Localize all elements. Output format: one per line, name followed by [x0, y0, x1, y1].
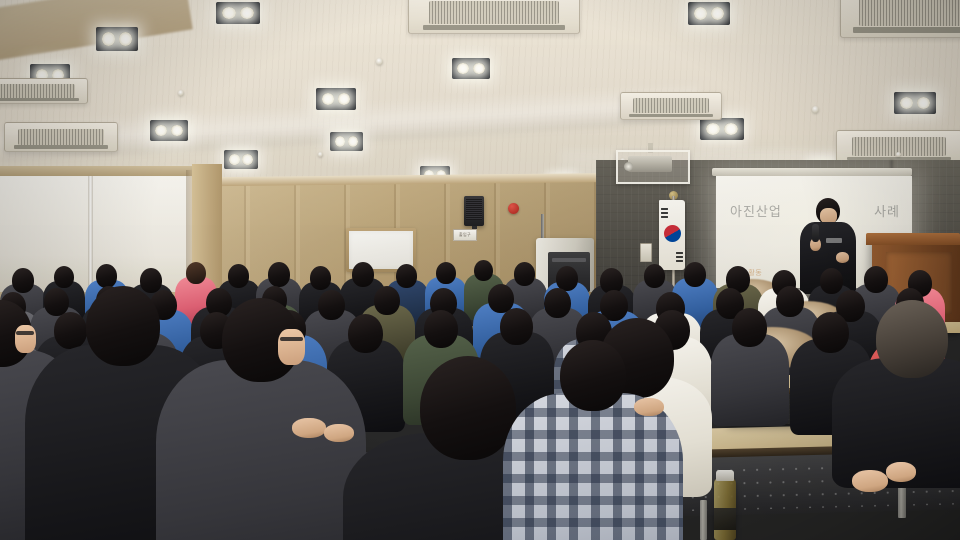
ac-vent: [0, 78, 88, 104]
ceiling-downlight: [216, 2, 260, 24]
hand: [852, 470, 888, 492]
audience-head: [318, 290, 345, 320]
speaker-grille: [466, 199, 482, 220]
audience-head: [436, 262, 456, 284]
presenter-hand: [836, 252, 849, 263]
audience-head: [560, 340, 626, 411]
hand: [324, 424, 354, 442]
projector: [628, 156, 672, 172]
audience-head: [96, 264, 117, 288]
audience-torso: [711, 334, 789, 426]
audience-head: [876, 300, 948, 378]
ceiling-downlight: [700, 118, 744, 140]
ac-vent: [408, 0, 580, 34]
face: [278, 329, 305, 365]
audience-head: [268, 262, 290, 287]
ac-vent: [4, 122, 118, 152]
audience-head: [500, 308, 533, 345]
ceiling-downlight: [150, 120, 188, 141]
desk-leg: [700, 500, 707, 540]
face: [15, 325, 36, 354]
audience-head: [474, 260, 493, 281]
audience-head: [644, 264, 665, 288]
ceiling-downlight: [894, 92, 936, 114]
bottle-cap: [716, 470, 734, 481]
av-equipment-slot: [552, 258, 586, 262]
audience-head: [186, 262, 206, 284]
audience-head: [424, 310, 458, 348]
audience-head: [86, 286, 160, 366]
audience-head: [228, 264, 249, 288]
fire-alarm-icon: [508, 203, 519, 214]
sprinkler-head: [812, 106, 819, 113]
ac-vent: [836, 130, 960, 164]
audience-head: [514, 262, 535, 286]
audience-head: [12, 268, 34, 293]
blinds-headrail: [0, 166, 196, 176]
hand: [886, 462, 916, 482]
podium-top: [866, 233, 960, 245]
audience-head: [310, 266, 331, 290]
audience-head: [54, 266, 74, 288]
audience-head: [140, 268, 162, 293]
screen-housing: [712, 168, 912, 176]
glasses-icon: [16, 331, 35, 335]
ceiling-downlight: [224, 150, 258, 169]
ceiling-downlight: [316, 88, 356, 110]
audience-head: [352, 262, 374, 287]
ceiling-downlight: [330, 132, 363, 151]
glasses-icon: [280, 337, 303, 341]
sprinkler-head: [318, 152, 323, 157]
microphone-icon: [812, 224, 819, 242]
seminar-room-photo: 출입구 아진산업 사례 혁신 활동 개선: [0, 0, 960, 540]
taeguk-symbol-icon: [664, 225, 681, 242]
ac-vent: [840, 0, 960, 38]
audience-head: [544, 288, 571, 318]
ac-vent: [620, 92, 722, 120]
slide-title: 아진산업 사례: [722, 198, 908, 222]
slide-title-left: 아진산업: [730, 201, 782, 220]
slide-title-right: 사례: [874, 201, 900, 220]
bottle-label: [714, 508, 736, 530]
audience-head: [732, 308, 767, 347]
blinds-divider: [88, 176, 93, 292]
audience-head: [374, 286, 400, 315]
audience-head: [54, 312, 87, 349]
ceiling-downlight: [96, 27, 138, 51]
ceiling-downlight: [688, 2, 730, 25]
wall-sign: 출입구: [453, 229, 477, 241]
audience-head: [684, 262, 706, 287]
audience-head: [812, 312, 849, 353]
audience-head: [396, 264, 417, 288]
sprinkler-head: [178, 90, 184, 96]
ceiling-downlight: [452, 58, 490, 79]
hand: [292, 418, 326, 438]
sprinkler-head: [896, 152, 901, 157]
light-switch[interactable]: [640, 243, 652, 262]
audience-head: [420, 356, 516, 460]
audience-head: [348, 314, 383, 353]
audience-torso: [156, 360, 366, 540]
projector-lens-icon: [624, 162, 633, 171]
audience-head: [556, 266, 578, 291]
microphone-stand: [541, 214, 544, 240]
audience-head: [776, 286, 804, 317]
sprinkler-head: [376, 58, 383, 65]
hand: [634, 398, 664, 416]
audience-head: [864, 266, 888, 293]
audience-head: [820, 268, 843, 294]
